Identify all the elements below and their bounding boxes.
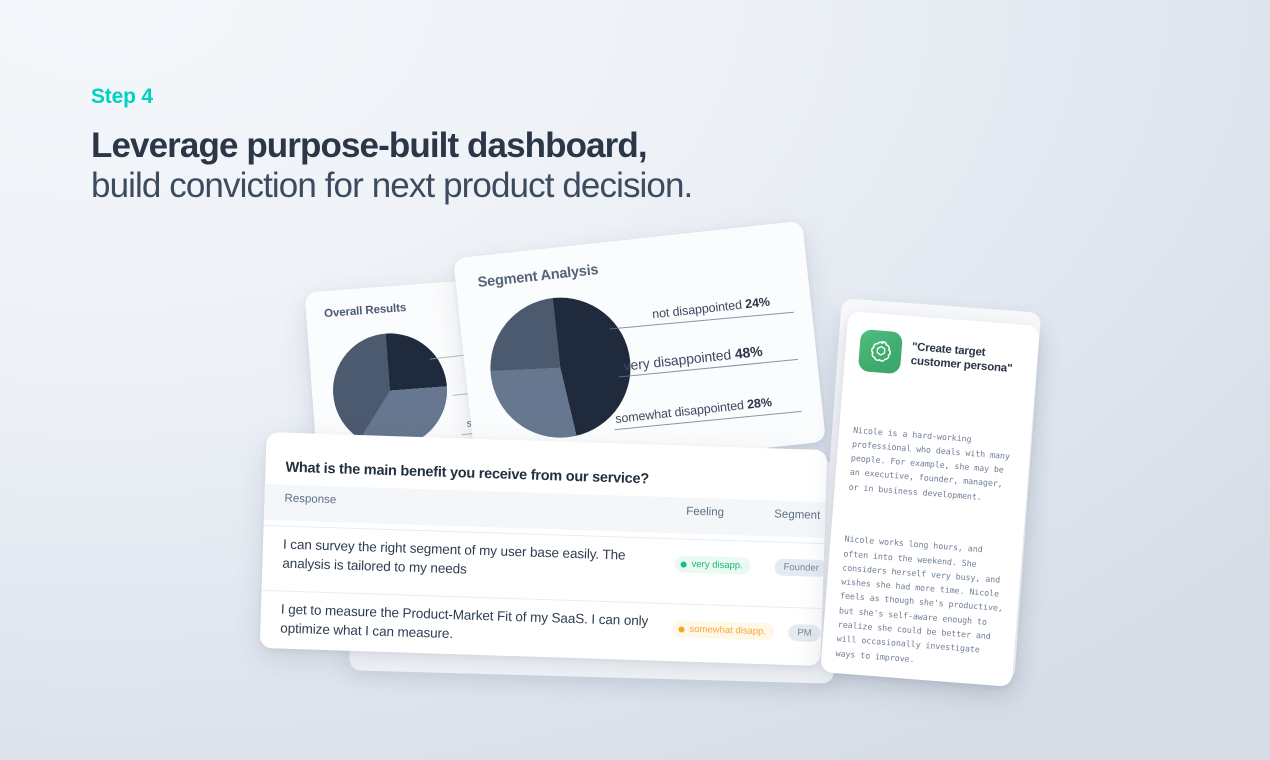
persona-header: "Create target customer persona" [858, 329, 1039, 385]
segment-analysis-title: Segment Analysis [477, 262, 599, 291]
response-text: I can survey the right segment of my use… [282, 536, 673, 586]
persona-body: Nicole is a hard-working professional wh… [828, 394, 1024, 687]
column-header-feeling: Feeling [686, 506, 724, 519]
table-question: What is the main benefit you receive fro… [285, 460, 649, 488]
segment-pill: Founder [774, 558, 827, 577]
feeling-label: somewhat disapp. [689, 624, 766, 637]
segment-pill: PM [788, 624, 821, 642]
feeling-label: very disapp. [691, 559, 743, 572]
feeling-badge: somewhat disapp. [672, 620, 774, 640]
persona-card[interactable]: "Create target customer persona" Nicole … [820, 311, 1040, 687]
segment-label-not-pct: 24% [744, 295, 770, 312]
overall-results-pie-chart [329, 329, 451, 451]
feeling-badge: very disapp. [674, 555, 751, 574]
column-header-segment: Segment [774, 508, 820, 521]
status-dot-icon [678, 626, 684, 632]
persona-paragraph-1: Nicole is a hard-working professional wh… [848, 422, 1021, 506]
card-stage: Overall Results som Segment Analysis not… [0, 0, 1270, 760]
column-header-response: Response [284, 493, 336, 507]
responses-table-card[interactable]: What is the main benefit you receive fro… [260, 432, 828, 666]
segment-label-not-disappointed: not disappointed 24% [651, 295, 770, 322]
overall-results-title: Overall Results [324, 302, 407, 320]
segment-analysis-pie-chart [483, 290, 637, 444]
segment-label-somewhat-pct: 28% [746, 395, 772, 412]
persona-title: "Create target customer persona" [910, 340, 1038, 379]
status-dot-icon [680, 561, 686, 567]
response-text: I get to measure the Product-Market Fit … [280, 601, 671, 651]
persona-paragraph-2: Nicole works long hours, and often into … [835, 532, 1013, 673]
segment-label-very-pct: 48% [734, 343, 763, 362]
openai-logo-icon [858, 329, 903, 374]
